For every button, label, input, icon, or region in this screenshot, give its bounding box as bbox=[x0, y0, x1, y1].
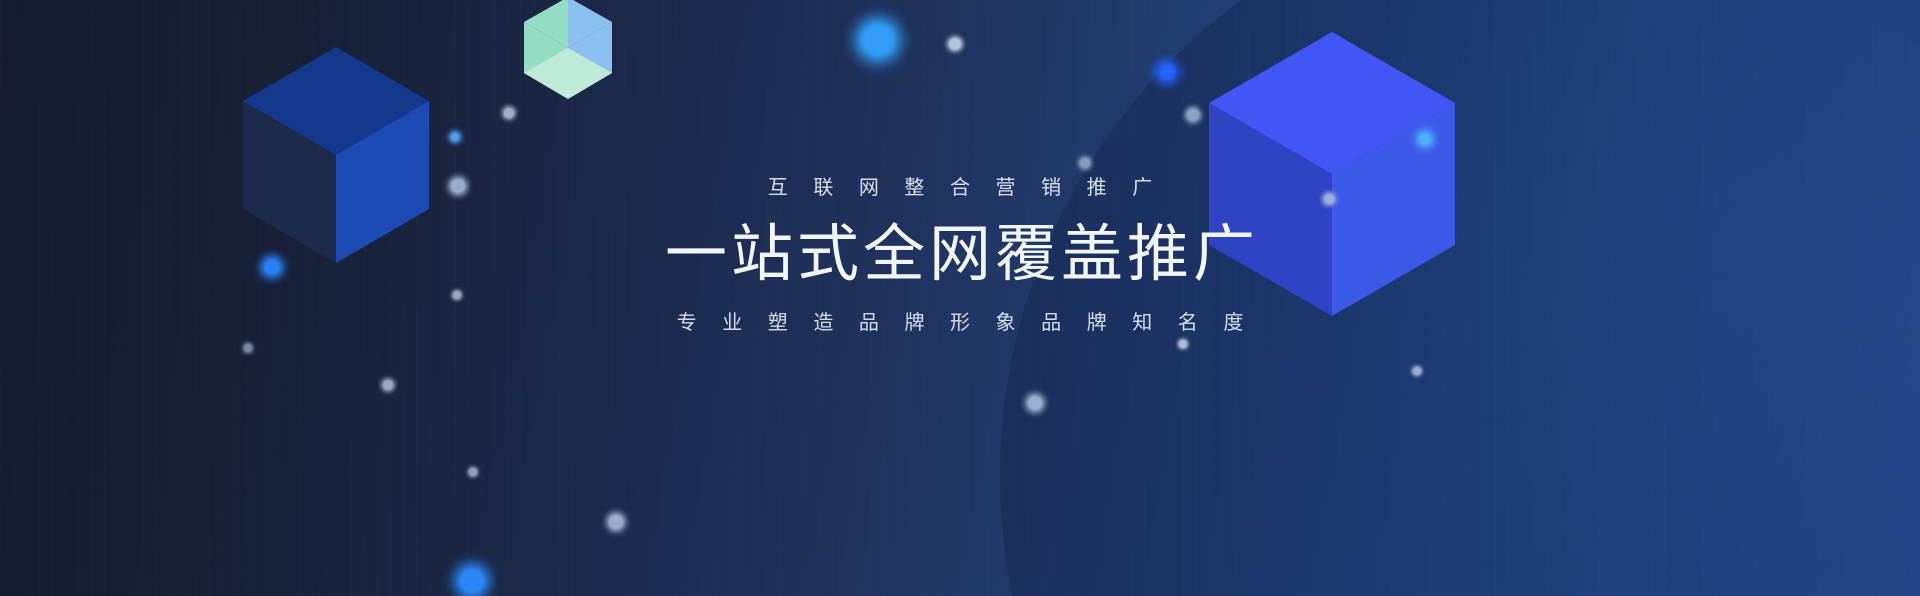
particle-dot bbox=[504, 108, 514, 118]
promo-banner: 互 联 网 整 合 营 销 推 广 一站式全网覆盖推广 专 业 塑 造 品 牌 … bbox=[0, 0, 1920, 596]
particle-dot bbox=[1413, 367, 1421, 375]
mint-cube-icon bbox=[524, 0, 612, 99]
particle-dot bbox=[383, 380, 393, 390]
particle-dot bbox=[459, 568, 485, 594]
particle-dot bbox=[244, 344, 252, 352]
particle-dot bbox=[451, 133, 459, 141]
particle-dot bbox=[1179, 340, 1187, 348]
banner-copy: 互 联 网 整 合 营 销 推 广 一站式全网覆盖推广 专 业 塑 造 品 牌 … bbox=[0, 178, 1920, 333]
particle-dot bbox=[861, 23, 895, 57]
banner-tagline: 专 业 塑 造 品 牌 形 象 品 牌 知 名 度 bbox=[0, 313, 1920, 333]
particle-dot bbox=[949, 38, 961, 50]
particle-dot bbox=[1028, 396, 1042, 410]
particle-dot bbox=[1187, 109, 1199, 121]
banner-eyebrow: 互 联 网 整 合 营 销 推 广 bbox=[0, 178, 1920, 198]
particle-dot bbox=[1159, 64, 1175, 80]
particle-dot bbox=[1080, 158, 1090, 168]
particle-dot bbox=[469, 468, 477, 476]
banner-headline: 一站式全网覆盖推广 bbox=[0, 220, 1920, 289]
particle-dot bbox=[609, 515, 623, 529]
